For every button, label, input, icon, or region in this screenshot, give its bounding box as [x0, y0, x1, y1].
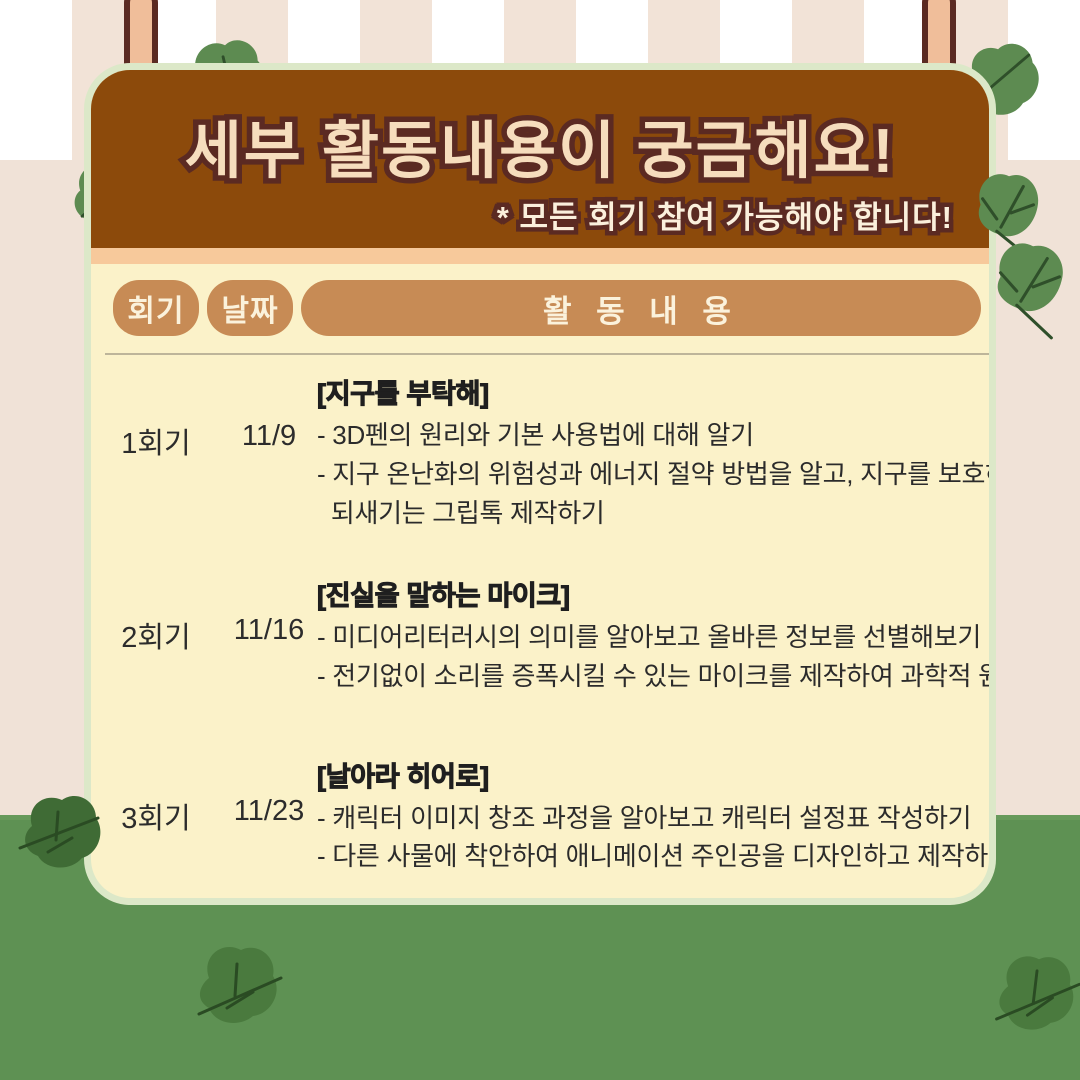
leaf-icon — [182, 930, 298, 1040]
table-row: 3회기11/23[날아라 히어로]- 캐릭터 이미지 창조 과정을 알아보고 캐… — [91, 711, 989, 892]
header-divider — [105, 353, 989, 355]
table-row: 2회기11/16[진실을 말하는 마이크]- 미디어리터러시의 의미를 알아보고… — [91, 548, 989, 711]
cell-date: 11/23 — [221, 795, 317, 828]
table-row: 4회기11/30[북유럽 신화 속 보물들]- 현대 판타지물에 영향을 준 북… — [91, 891, 989, 905]
page-title: 세부 활동내용이 궁금해요! — [91, 100, 989, 190]
activity-line: - 다른 사물에 착안하여 애니메이션 주인공을 디자인하고 제작하기 — [317, 838, 996, 875]
info-board: 세부 활동내용이 궁금해요! * 모든 회기 참여 가능해야 합니다! 회기 날… — [84, 63, 996, 905]
cell-content: [날아라 히어로]- 캐릭터 이미지 창조 과정을 알아보고 캐릭터 설정표 작… — [317, 755, 996, 878]
activity-title: [지구를 부탁해] — [317, 372, 996, 411]
activity-line: - 지구 온난화의 위험성과 에너지 절약 방법을 알고, 지구를 보호하는 마… — [317, 456, 996, 493]
leaf-icon — [984, 228, 1076, 348]
column-header-date: 날짜 — [207, 280, 293, 336]
column-headers: 회기 날짜 활 동 내 용 — [113, 280, 981, 336]
leaf-icon — [982, 940, 1080, 1046]
activity-line: - 전기없이 소리를 증폭시킬 수 있는 마이크를 제작하여 과학적 원리를 체… — [317, 658, 996, 695]
activity-line: - 3D펜의 원리와 기본 사용법에 대해 알기 — [317, 417, 996, 454]
cell-date: 11/9 — [221, 420, 317, 453]
activity-line: 되새기는 그립톡 제작하기 — [317, 495, 996, 532]
table-row: 1회기11/9[지구를 부탁해]- 3D펜의 원리와 기본 사용법에 대해 알기… — [91, 360, 989, 548]
board-header-lip — [91, 248, 989, 264]
cell-session: 1회기 — [91, 420, 221, 462]
column-header-session: 회기 — [113, 280, 199, 336]
activity-line: - 캐릭터 이미지 창조 과정을 알아보고 캐릭터 설정표 작성하기 — [317, 800, 996, 837]
cell-date: 11/16 — [221, 614, 317, 647]
cell-session: 2회기 — [91, 614, 221, 656]
schedule-table: 1회기11/9[지구를 부탁해]- 3D펜의 원리와 기본 사용법에 대해 알기… — [91, 360, 989, 905]
poster-root: 세부 활동내용이 궁금해요! * 모든 회기 참여 가능해야 합니다! 회기 날… — [0, 0, 1080, 1080]
column-header-content: 활 동 내 용 — [301, 280, 981, 336]
cell-content: [진실을 말하는 마이크]- 미디어리터러시의 의미를 알아보고 올바른 정보를… — [317, 574, 996, 697]
activity-title: [진실을 말하는 마이크] — [317, 574, 996, 613]
cell-content: [지구를 부탁해]- 3D펜의 원리와 기본 사용법에 대해 알기- 지구 온난… — [317, 372, 996, 534]
activity-line: - 미디어리터러시의 의미를 알아보고 올바른 정보를 선별해보기 — [317, 619, 996, 656]
activity-title: [날아라 히어로] — [317, 755, 996, 794]
leaf-icon — [10, 782, 114, 882]
page-subtitle: * 모든 회기 참여 가능해야 합니다! — [497, 192, 953, 237]
